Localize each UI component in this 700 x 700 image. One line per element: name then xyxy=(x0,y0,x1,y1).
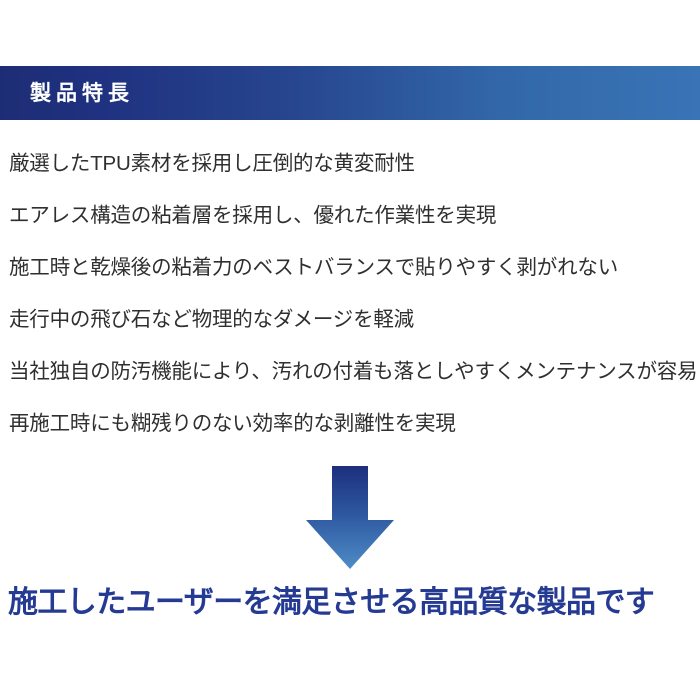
feature-item: 施工時と乾燥後の粘着力のベストバランスで貼りやすく剥がれない xyxy=(9,242,696,294)
feature-item: エアレス構造の粘着層を採用し、優れた作業性を実現 xyxy=(9,190,696,242)
arrow-down-container xyxy=(0,466,700,574)
feature-item: 当社独自の防汚機能により、汚れの付着も落としやすくメンテナンスが容易 xyxy=(9,346,696,398)
feature-list: 厳選したTPU素材を採用し圧倒的な黄変耐性 エアレス構造の粘着層を採用し、優れた… xyxy=(0,138,700,450)
feature-item: 厳選したTPU素材を採用し圧倒的な黄変耐性 xyxy=(9,138,696,190)
tagline-text: 施工したユーザーを満足させる高品質な製品です xyxy=(0,580,700,626)
section-header-title: 製品特長 xyxy=(30,83,134,104)
feature-item: 走行中の飛び石など物理的なダメージを軽減 xyxy=(9,294,696,346)
arrow-down-icon xyxy=(304,466,396,570)
product-features-page: 製品特長 厳選したTPU素材を採用し圧倒的な黄変耐性 エアレス構造の粘着層を採用… xyxy=(0,0,700,700)
section-header-band: 製品特長 xyxy=(0,66,700,120)
feature-item: 再施工時にも糊残りのない効率的な剥離性を実現 xyxy=(9,398,696,450)
